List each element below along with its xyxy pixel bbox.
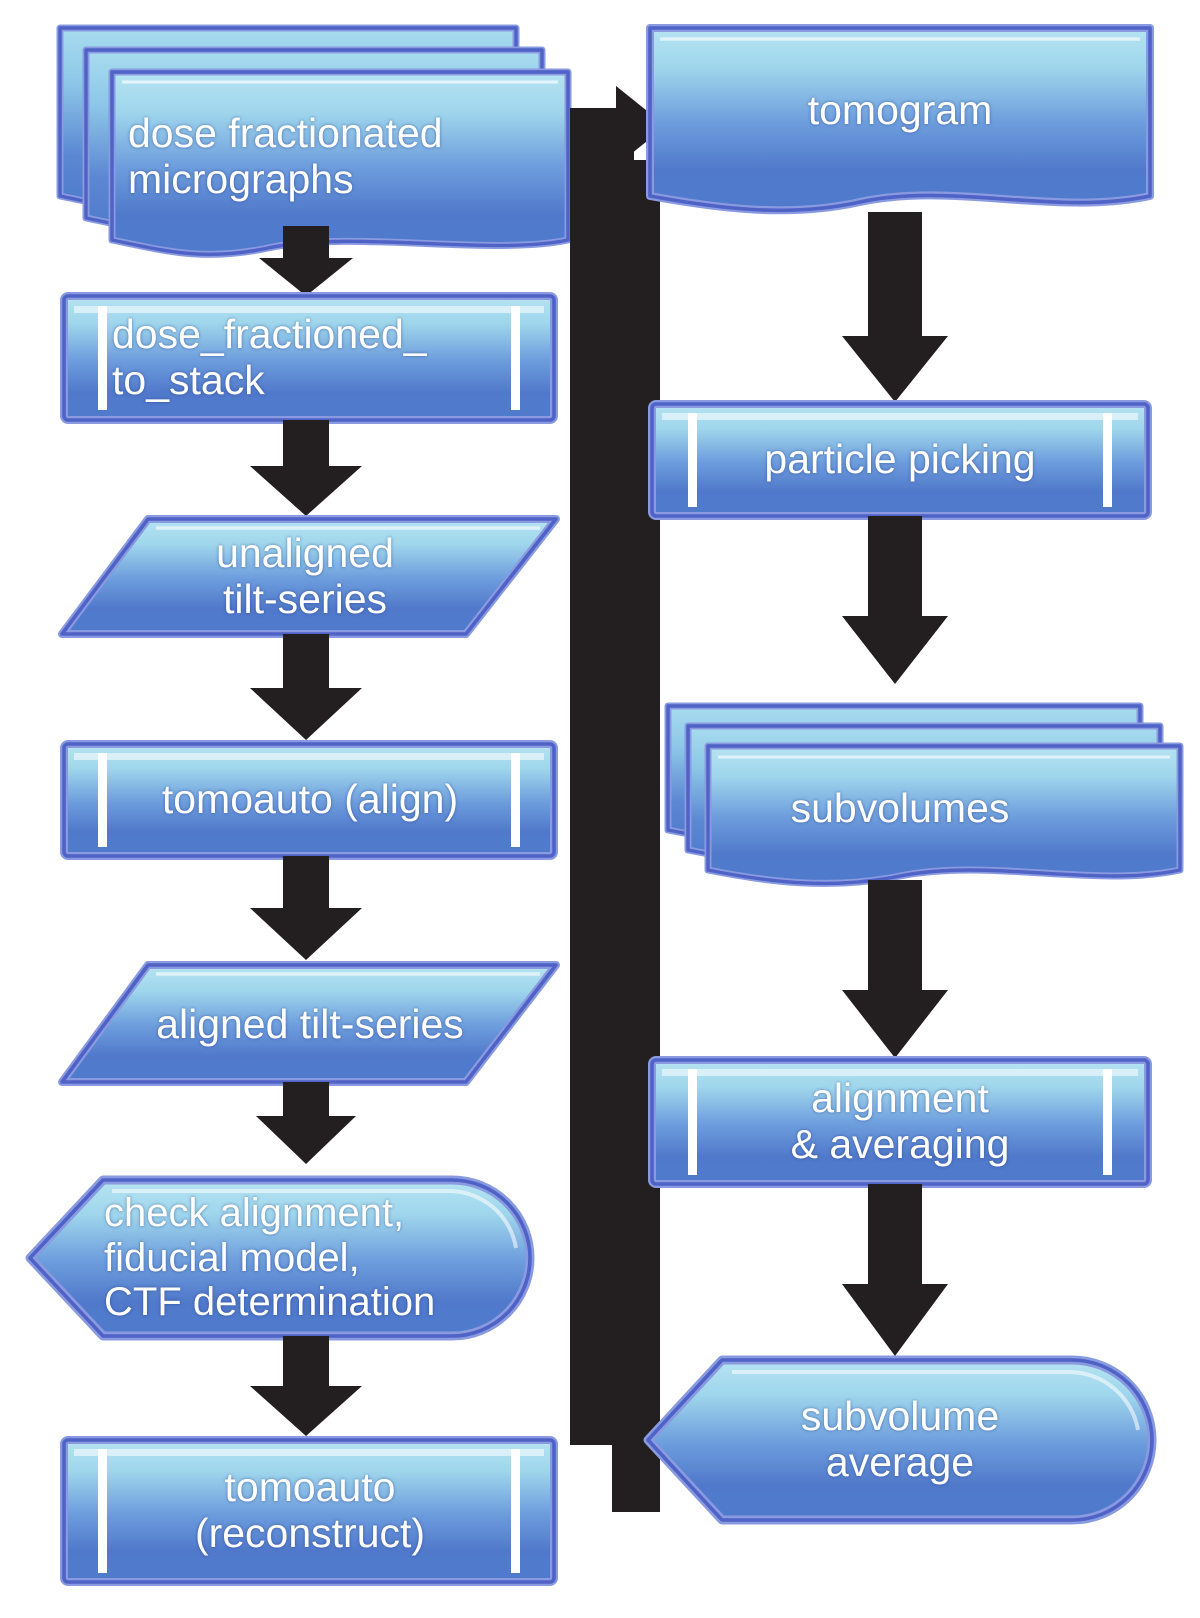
- edge-unaligned-to-align: [250, 634, 362, 740]
- hit-dose-fractionated-micrographs[interactable]: [60, 28, 572, 254]
- edge-averaging-to-average: [842, 1184, 948, 1356]
- edge-reconstruct-to-tomogram: [556, 86, 666, 1512]
- hit-alignment-and-averaging[interactable]: [652, 1060, 1148, 1184]
- hit-tomogram[interactable]: [650, 28, 1150, 214]
- hit-check-alignment[interactable]: [30, 1180, 530, 1336]
- hit-subvolumes[interactable]: [668, 706, 1180, 884]
- hit-subvolume-average[interactable]: [648, 1360, 1152, 1520]
- hit-unaligned-tilt-series[interactable]: [62, 519, 556, 634]
- edge-picking-to-subvolumes: [842, 516, 948, 684]
- edge-align-to-aligned: [250, 856, 362, 960]
- edge-check-to-reconstruct: [250, 1336, 362, 1436]
- hit-dose-fractioned-to-stack[interactable]: [64, 296, 554, 420]
- edge-aligned-to-check: [256, 1082, 356, 1164]
- edge-subvolumes-to-averaging: [842, 880, 948, 1058]
- hit-aligned-tilt-series[interactable]: [62, 965, 556, 1082]
- hit-particle-picking[interactable]: [652, 404, 1148, 516]
- edge-stack-to-unaligned: [250, 420, 362, 516]
- hit-tomoauto-reconstruct[interactable]: [64, 1440, 554, 1582]
- edge-tomogram-to-picking: [842, 212, 948, 402]
- hit-tomoauto-align[interactable]: [64, 744, 554, 856]
